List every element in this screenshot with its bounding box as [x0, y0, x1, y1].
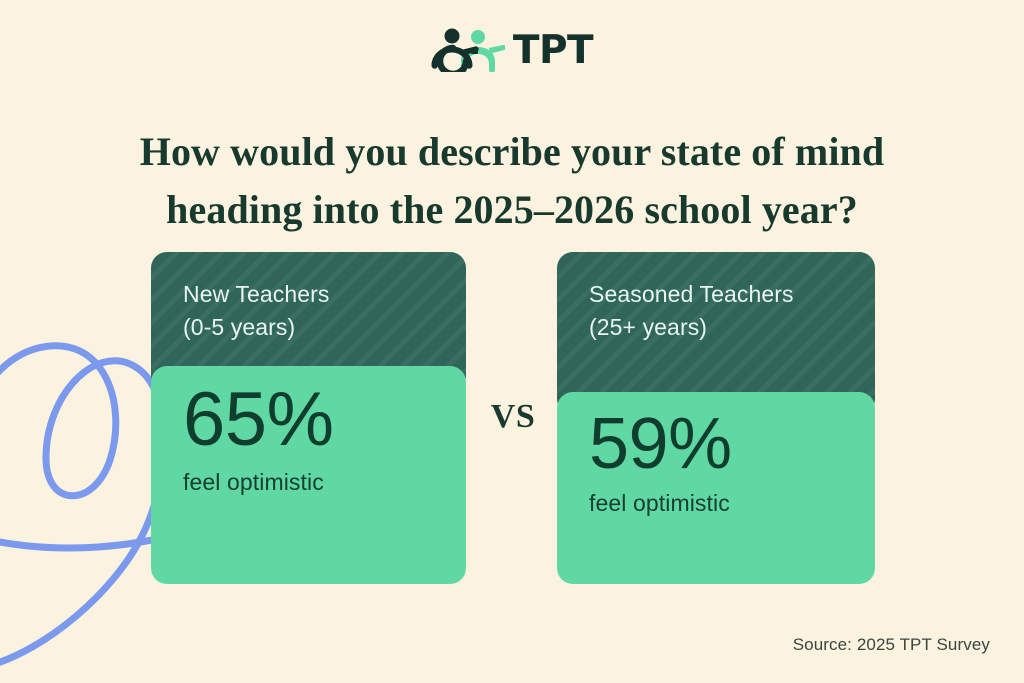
stat-card-header: Seasoned Teachers (25+ years) [557, 252, 875, 415]
stat-percent: 65% [183, 380, 436, 461]
stat-caption: feel optimistic [589, 490, 845, 517]
group-label: New Teachers (0-5 years) [183, 278, 438, 343]
tpt-people-logo-icon [431, 28, 505, 72]
stat-card-body: 65% feel optimistic [151, 366, 466, 584]
versus-separator: VS [478, 398, 548, 436]
brand-logo: TPT [0, 24, 1024, 76]
group-name: Seasoned Teachers [589, 281, 794, 307]
group-name: New Teachers [183, 281, 330, 307]
group-detail: (0-5 years) [183, 311, 438, 344]
title-line-1: How would you describe your state of min… [62, 123, 962, 181]
page-title: How would you describe your state of min… [62, 123, 962, 239]
group-label: Seasoned Teachers (25+ years) [589, 278, 847, 343]
brand-wordmark: TPT [513, 31, 593, 70]
stat-caption: feel optimistic [183, 469, 436, 496]
group-detail: (25+ years) [589, 311, 847, 344]
title-line-2: heading into the 2025–2026 school year? [62, 181, 962, 239]
infographic-canvas: TPT How would you describe your state of… [0, 0, 1024, 683]
stat-percent: 59% [589, 406, 845, 482]
stat-card-body: 59% feel optimistic [557, 392, 875, 584]
source-note: Source: 2025 TPT Survey [793, 635, 990, 655]
